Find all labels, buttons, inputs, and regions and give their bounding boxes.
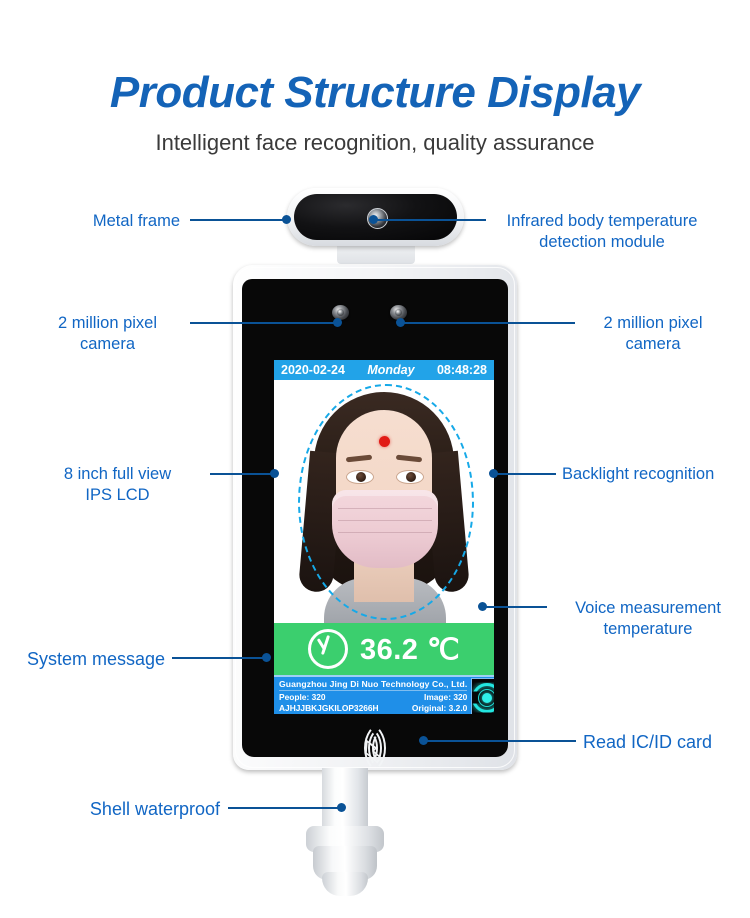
callout-system-message: System message [15, 648, 165, 671]
temperature-value: 36.2 ℃ [360, 632, 460, 667]
leader-lcd [210, 473, 273, 475]
infrared-module [287, 188, 464, 266]
people-count: People: 320 [279, 692, 326, 703]
company-name: Guangzhou Jing Di Nuo Technology Co., Lt… [279, 679, 467, 691]
status-weekday: Monday [367, 363, 414, 377]
callout-backlight: Backlight recognition [562, 464, 750, 485]
original-value: 3.2.0 [449, 703, 468, 713]
leader-dot-waterproof [337, 803, 346, 812]
leader-voice [485, 606, 547, 608]
image-label: Image: [424, 692, 451, 702]
callout-lcd: 8 inch full view IPS LCD [35, 464, 200, 505]
face-detection-oval [298, 384, 474, 620]
callout-infrared-module: Infrared body temperature detection modu… [492, 211, 712, 252]
check-circle-icon [308, 629, 348, 669]
callout-voice: Voice measurement temperature [548, 598, 748, 639]
leader-system-message [172, 657, 265, 659]
callout-voice-line1: Voice measurement [548, 598, 748, 619]
leader-infrared [376, 219, 486, 221]
leader-waterproof [228, 807, 340, 809]
face-preview [274, 380, 494, 623]
camera-pupil-left [337, 309, 344, 316]
image-value: 320 [453, 692, 467, 702]
leader-backlight [496, 473, 556, 475]
callout-lcd-line2: IPS LCD [35, 485, 200, 506]
callout-camera-left-line2: camera [35, 334, 180, 355]
camera-pupil-right [395, 309, 402, 316]
status-date: 2020-02-24 [281, 363, 345, 377]
system-info-text: Guangzhou Jing Di Nuo Technology Co., Lt… [274, 677, 471, 714]
leader-dot-lcd [270, 469, 279, 478]
info-row-counts: People: 320 Image: 320 [279, 692, 467, 703]
serial-number: AJHJJBKJGKILOP3266H [279, 703, 379, 714]
people-value: 320 [312, 692, 326, 702]
stand-cap [322, 872, 368, 896]
leader-dot-metal-frame [282, 215, 291, 224]
product-structure-diagram: Product Structure Display Intelligent fa… [0, 0, 750, 918]
device-body: 2020-02-24 Monday 08:48:28 [233, 265, 517, 770]
page-title: Product Structure Display [0, 68, 750, 118]
original-version: Original: 3.2.0 [412, 703, 467, 714]
people-label: People: [279, 692, 309, 702]
info-row-serial: AJHJJBKJGKILOP3266H Original: 3.2.0 [279, 703, 467, 714]
leader-read-card [426, 740, 576, 742]
callout-camera-left: 2 million pixel camera [35, 313, 180, 354]
leader-metal-frame [190, 219, 285, 221]
page-subtitle: Intelligent face recognition, quality as… [0, 130, 750, 156]
callout-metal-frame: Metal frame [35, 211, 180, 232]
scan-ring-icon [471, 678, 494, 714]
callout-voice-line2: temperature [548, 619, 748, 640]
callout-camera-left-line1: 2 million pixel [35, 313, 180, 334]
rfid-reader-zone[interactable] [242, 720, 508, 776]
callout-infrared-line1: Infrared body temperature [492, 211, 712, 232]
callout-camera-right: 2 million pixel camera [578, 313, 728, 354]
image-count: Image: 320 [424, 692, 467, 703]
hand-glyph [363, 735, 387, 763]
leader-camera-left [190, 322, 336, 324]
leader-camera-right [403, 322, 575, 324]
original-label: Original: [412, 703, 446, 713]
callout-infrared-line2: detection module [492, 232, 712, 253]
stand-post [322, 768, 368, 830]
status-time: 08:48:28 [437, 363, 487, 377]
status-bar: 2020-02-24 Monday 08:48:28 [274, 360, 494, 380]
lcd-screen[interactable]: 2020-02-24 Monday 08:48:28 [274, 360, 494, 714]
leader-dot-system-message [262, 653, 271, 662]
callout-camera-right-line1: 2 million pixel [578, 313, 728, 334]
callout-camera-right-line2: camera [578, 334, 728, 355]
callout-read-card: Read IC/ID card [583, 731, 748, 754]
device-bezel: 2020-02-24 Monday 08:48:28 [242, 279, 508, 757]
system-info-panel: Guangzhou Jing Di Nuo Technology Co., Lt… [274, 675, 494, 714]
leader-dot-camera-left [333, 318, 342, 327]
callout-waterproof: Shell waterproof [60, 798, 220, 821]
rfid-wave-hand-icon [336, 726, 414, 770]
temperature-banner: 36.2 ℃ [274, 623, 494, 675]
callout-lcd-line1: 8 inch full view [35, 464, 200, 485]
